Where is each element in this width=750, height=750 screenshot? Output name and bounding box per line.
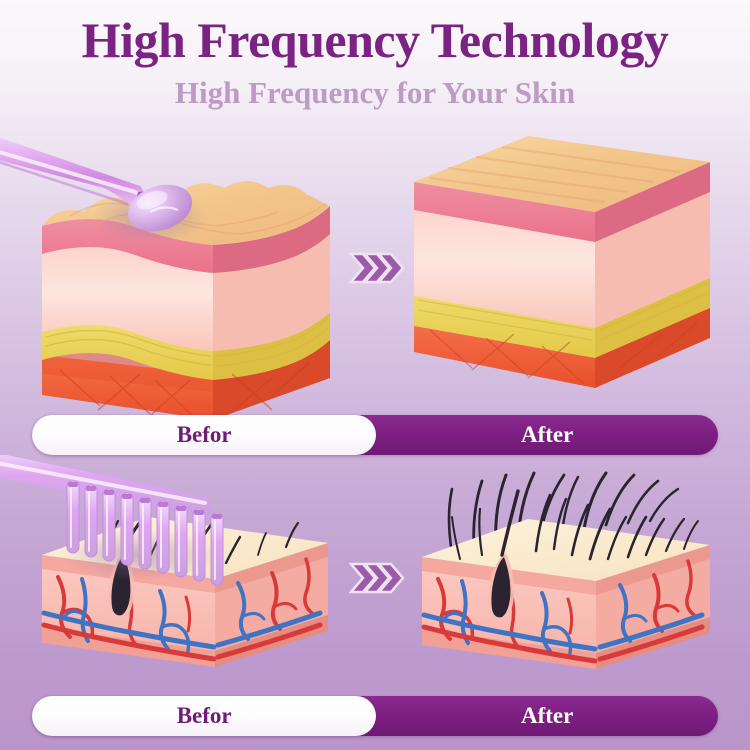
dense-hair-scalp-illustration: [390, 455, 750, 695]
skin-block-before: [42, 181, 330, 420]
thinning-scalp-block: [0, 455, 360, 695]
scalp-block-after: [422, 473, 710, 669]
wrinkled-skin-block: [0, 130, 360, 420]
header: High Frequency Technology High Frequency…: [0, 0, 750, 109]
page-root: High Frequency Technology High Frequency…: [0, 0, 750, 750]
page-title: High Frequency Technology: [0, 0, 750, 67]
row1-before-label: Befor: [32, 415, 376, 455]
triple-chevron-right-icon: [349, 554, 405, 602]
page-subtitle: High Frequency for Your Skin: [0, 67, 750, 110]
skin-block-after: [414, 136, 710, 388]
wrinkled-skin-illustration: [0, 130, 360, 420]
row2-after-label: After: [376, 696, 718, 736]
smooth-skin-block: [390, 130, 750, 420]
row1-before-after-bar: Befor After: [32, 415, 718, 455]
row2-before-after-bar: Befor After: [32, 696, 718, 736]
smooth-skin-illustration: [390, 130, 750, 420]
dense-hair-scalp-block: [390, 455, 750, 695]
row1-arrow-triple-chevron: [349, 243, 405, 293]
row1-after-label: After: [376, 415, 718, 455]
row2-arrow-triple-chevron: [349, 553, 405, 603]
row2-before-label: Befor: [32, 696, 376, 736]
triple-chevron-right-icon: [349, 244, 405, 292]
thinning-scalp-illustration: [0, 455, 360, 695]
